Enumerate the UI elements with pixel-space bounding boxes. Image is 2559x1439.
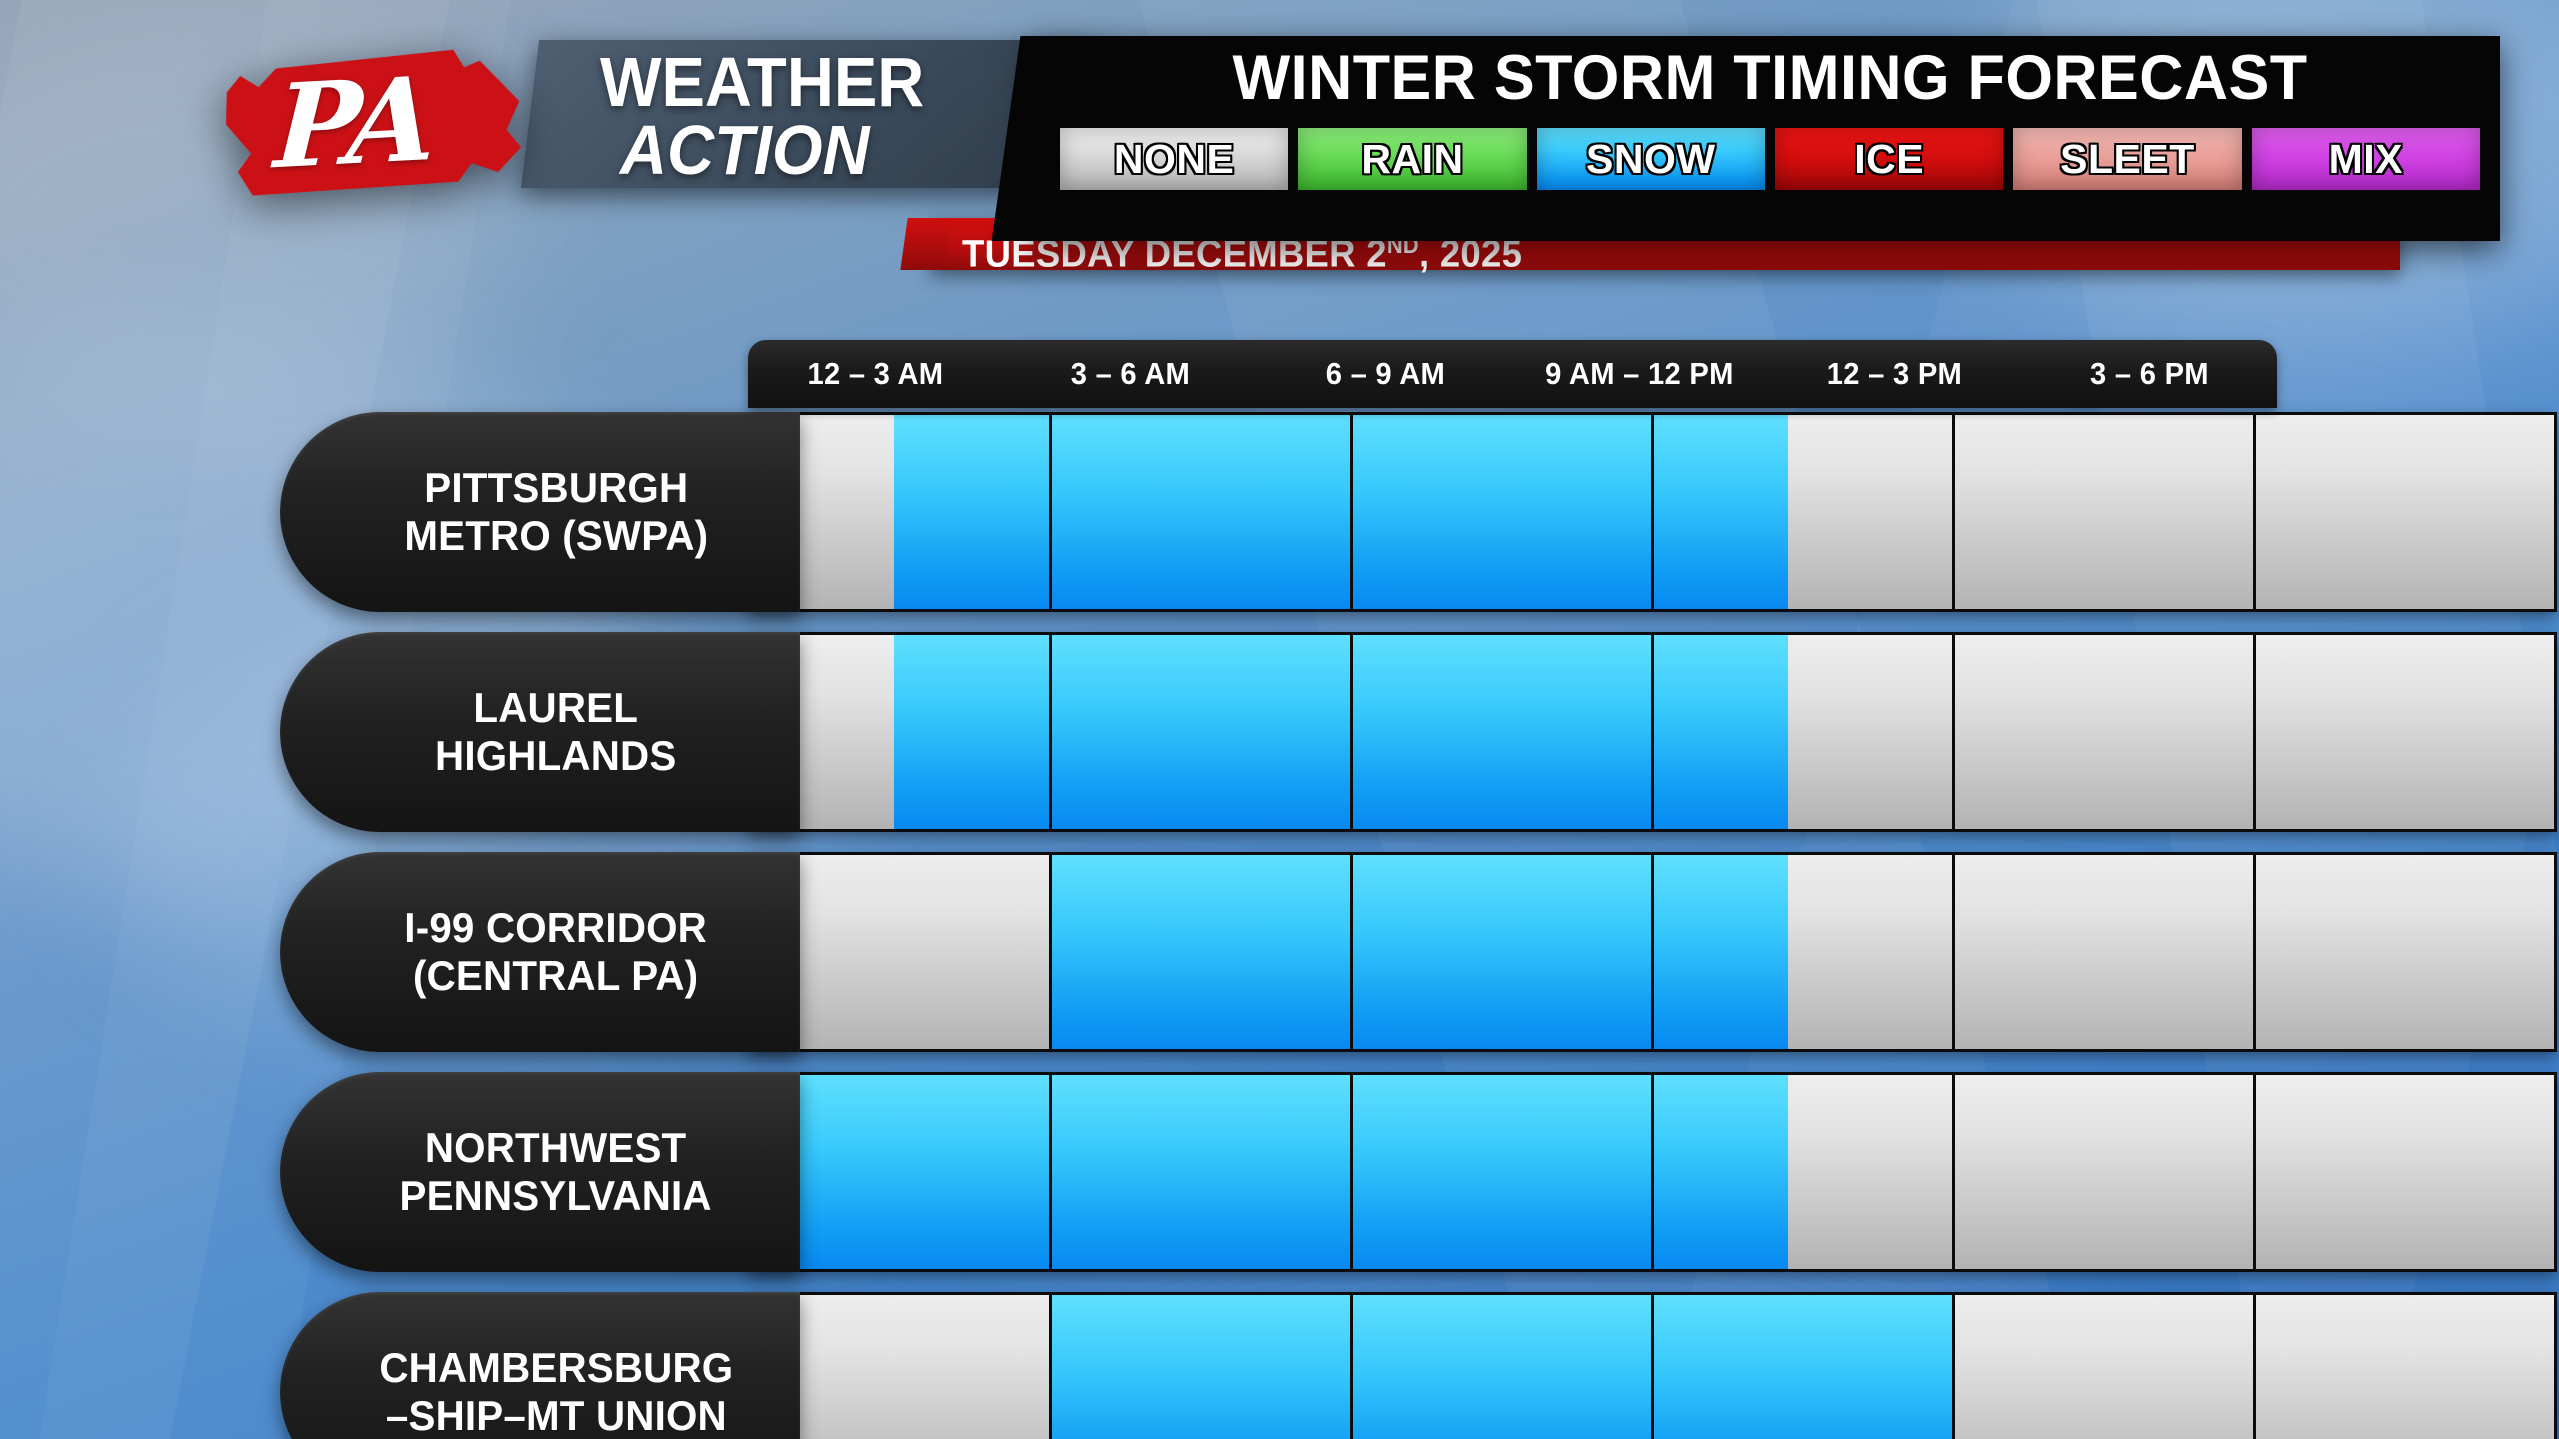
header-banner: PA WEATHER ACTION WINTER STORM TIMING FO… [100, 18, 2430, 188]
region-label-pill[interactable]: I-99 CORRIDOR(CENTRAL PA) [280, 852, 800, 1052]
row-timeline-grid [748, 412, 2557, 612]
precip-segment-none [1788, 635, 1952, 829]
legend-chip-none[interactable]: NONE [1060, 128, 1288, 190]
forecast-cell-r4-c3[interactable] [1654, 1295, 1955, 1439]
precip-segment-none [2256, 415, 2554, 609]
region-label: LAURELHIGHLANDS [435, 684, 676, 780]
legend-chip-label: MIX [2329, 136, 2403, 183]
forecast-cell-r3-c1[interactable] [1052, 1075, 1353, 1269]
precip-segment-none [1955, 415, 2253, 609]
forecast-cell-r1-c4[interactable] [1955, 635, 2256, 829]
time-column-header-0: 12 – 3 AM [756, 340, 996, 408]
precip-segment-snow [1654, 855, 1788, 1049]
precip-segment-snow [1654, 1075, 1788, 1269]
time-column-header-3: 9 AM – 12 PM [1520, 340, 1760, 408]
precip-segment-none [1955, 1075, 2253, 1269]
precip-segment-snow [1353, 415, 1651, 609]
precip-segment-snow [1052, 1295, 1350, 1439]
row-timeline-grid [748, 632, 2557, 832]
legend-chip-rain[interactable]: RAIN [1298, 128, 1526, 190]
time-column-header-5: 3 – 6 PM [2030, 340, 2270, 408]
region-label: CHAMBERSBURG–SHIP–MT UNION [379, 1344, 733, 1439]
forecast-row: LAURELHIGHLANDS [280, 632, 2557, 832]
brand-line-action: ACTION [620, 110, 870, 190]
time-column-header-2: 6 – 9 AM [1265, 340, 1505, 408]
region-label-pill[interactable]: LAURELHIGHLANDS [280, 632, 800, 832]
precip-segment-snow [1052, 855, 1350, 1049]
precip-segment-none [1788, 1075, 1952, 1269]
legend-chip-label: ICE [1854, 136, 1924, 183]
region-label-pill[interactable]: CHAMBERSBURG–SHIP–MT UNION [280, 1292, 800, 1439]
legend-chip-label: SLEET [2060, 136, 2195, 183]
row-timeline-grid [748, 1292, 2557, 1439]
timeline-header: 12 – 3 AM3 – 6 AM6 – 9 AM9 AM – 12 PM12 … [748, 340, 2277, 408]
precip-segment-none [1788, 415, 1952, 609]
region-label: PITTSBURGHMETRO (SWPA) [404, 464, 708, 560]
forecast-cell-r1-c3[interactable] [1654, 635, 1955, 829]
precip-segment-none [1955, 635, 2253, 829]
precip-segment-none [2256, 855, 2554, 1049]
forecast-cell-r0-c3[interactable] [1654, 415, 1955, 609]
precip-segment-snow [1654, 635, 1788, 829]
forecast-cell-r3-c2[interactable] [1353, 1075, 1654, 1269]
forecast-cell-r0-c2[interactable] [1353, 415, 1654, 609]
legend-chip-sleet[interactable]: SLEET [2013, 128, 2241, 190]
legend-chip-label: SNOW [1586, 136, 1716, 183]
precip-segment-none [2256, 1295, 2554, 1439]
forecast-cell-r1-c5[interactable] [2256, 635, 2554, 829]
forecast-row: CHAMBERSBURG–SHIP–MT UNION [280, 1292, 2557, 1439]
precip-segment-snow [1353, 1075, 1651, 1269]
precip-segment-snow [1654, 415, 1788, 609]
forecast-cell-r4-c2[interactable] [1353, 1295, 1654, 1439]
precip-segment-snow [894, 415, 1049, 609]
legend-chip-label: NONE [1114, 136, 1234, 183]
legend-chip-mix[interactable]: MIX [2252, 128, 2480, 190]
precip-segment-none [1955, 855, 2253, 1049]
region-label-pill[interactable]: NORTHWESTPENNSYLVANIA [280, 1072, 800, 1272]
forecast-cell-r1-c2[interactable] [1353, 635, 1654, 829]
precip-segment-snow [1052, 1075, 1350, 1269]
precip-segment-none [1955, 1295, 2253, 1439]
forecast-cell-r0-c1[interactable] [1052, 415, 1353, 609]
precip-segment-snow [1353, 1295, 1651, 1439]
forecast-cell-r2-c2[interactable] [1353, 855, 1654, 1049]
forecast-cell-r2-c5[interactable] [2256, 855, 2554, 1049]
forecast-row: NORTHWESTPENNSYLVANIA [280, 1072, 2557, 1272]
row-timeline-grid [748, 852, 2557, 1052]
forecast-cell-r0-c5[interactable] [2256, 415, 2554, 609]
forecast-cell-r4-c1[interactable] [1052, 1295, 1353, 1439]
precip-segment-snow [1052, 635, 1350, 829]
region-label: I-99 CORRIDOR(CENTRAL PA) [405, 904, 708, 1000]
region-label-pill[interactable]: PITTSBURGHMETRO (SWPA) [280, 412, 800, 612]
forecast-cell-r3-c5[interactable] [2256, 1075, 2554, 1269]
forecast-cell-r4-c4[interactable] [1955, 1295, 2256, 1439]
precip-segment-none [2256, 1075, 2554, 1269]
forecast-cell-r2-c1[interactable] [1052, 855, 1353, 1049]
forecast-cell-r1-c1[interactable] [1052, 635, 1353, 829]
forecast-cell-r0-c4[interactable] [1955, 415, 2256, 609]
precip-segment-snow [1353, 635, 1651, 829]
precip-segment-snow [1353, 855, 1651, 1049]
forecast-cell-r2-c3[interactable] [1654, 855, 1955, 1049]
precip-segment-none [2256, 635, 2554, 829]
pennsylvania-keystone-logo-icon [217, 41, 572, 199]
precip-segment-snow [1654, 1295, 1952, 1439]
forecast-cell-r3-c3[interactable] [1654, 1075, 1955, 1269]
region-label: NORTHWESTPENNSYLVANIA [400, 1124, 712, 1220]
legend-chip-snow[interactable]: SNOW [1537, 128, 1765, 190]
forecast-cell-r4-c5[interactable] [2256, 1295, 2554, 1439]
forecast-row: I-99 CORRIDOR(CENTRAL PA) [280, 852, 2557, 1052]
time-column-header-1: 3 – 6 AM [1010, 340, 1250, 408]
row-timeline-grid [748, 1072, 2557, 1272]
precipitation-legend: NONERAINSNOWICESLEETMIX [1060, 128, 2480, 190]
forecast-row: PITTSBURGHMETRO (SWPA) [280, 412, 2557, 612]
forecast-graphic: PA WEATHER ACTION WINTER STORM TIMING FO… [0, 0, 2559, 1439]
page-title: WINTER STORM TIMING FORECAST [1081, 42, 2458, 114]
legend-chip-label: RAIN [1361, 136, 1463, 183]
precip-segment-snow [894, 635, 1049, 829]
precip-segment-none [1788, 855, 1952, 1049]
legend-chip-ice[interactable]: ICE [1775, 128, 2003, 190]
time-column-header-4: 12 – 3 PM [1775, 340, 2015, 408]
forecast-cell-r3-c4[interactable] [1955, 1075, 2256, 1269]
precip-segment-snow [1052, 415, 1350, 609]
forecast-cell-r2-c4[interactable] [1955, 855, 2256, 1049]
